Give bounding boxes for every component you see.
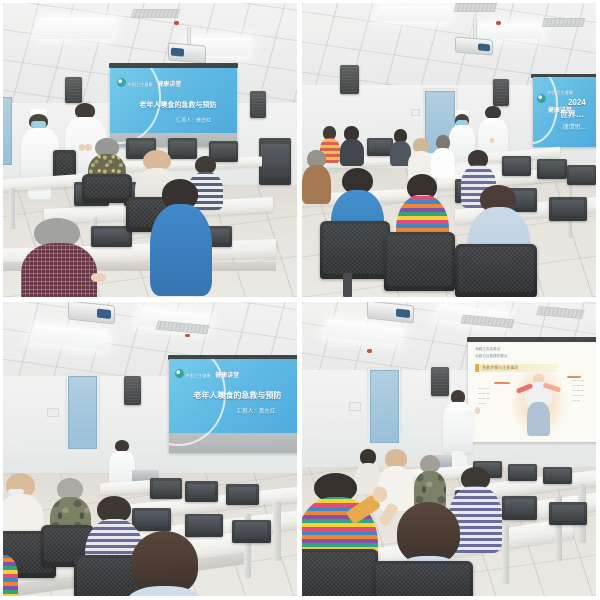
audience-member <box>414 455 446 508</box>
ceiling-vent <box>131 9 181 18</box>
slide-logo-large-text: 健康讲堂 <box>157 82 181 88</box>
photo-bottom-left: 中国卫生健康 健康讲堂 老年人噢食的急救与预防 汇报人：黄志红 <box>3 302 297 596</box>
slide-subtitle: 汇报人：黄志红 <box>176 117 211 124</box>
wall-speaker <box>340 65 359 94</box>
slide-logo-small-text: 中国卫生健康 <box>548 90 573 95</box>
ceiling-light <box>477 24 545 39</box>
audience-member <box>302 150 331 203</box>
smoke-detector-icon <box>367 349 372 353</box>
health-logo-icon <box>117 78 126 87</box>
audience-member <box>3 555 18 596</box>
desktop-monitor <box>537 159 566 180</box>
classroom-door <box>370 370 399 444</box>
audience-member <box>21 218 97 297</box>
slide-logo: 中国卫生健康 健康讲堂 <box>117 73 182 91</box>
projection-screen: 海姆立克急救法 自救与互救操作要点 急救步骤与注意事项 — — —— — —— … <box>468 342 596 442</box>
chair <box>320 221 391 280</box>
audience-member <box>431 135 455 176</box>
desktop-monitor <box>185 481 217 502</box>
ceiling-projector <box>168 42 206 63</box>
slide-logo-small-text: 中国卫生健康 <box>186 373 211 378</box>
wall-speaker <box>124 376 142 405</box>
photo-top-right: 中国卫生健康 健康讲堂 2024 世界… 谨请思… <box>302 3 596 297</box>
slide-callout-right: — — —— — —— — —— — —— — <box>573 378 584 404</box>
desktop-monitor <box>502 496 537 520</box>
slide-title: 老年人噢食的急救与预防 <box>139 100 216 110</box>
face-mask <box>31 121 46 128</box>
smoke-detector-icon <box>496 21 501 25</box>
slide-line-3: 谨请思… <box>563 122 587 131</box>
desktop-monitor <box>549 197 587 221</box>
classroom-door <box>3 97 12 165</box>
desktop-monitor <box>508 464 537 482</box>
audience-member <box>121 531 209 596</box>
desktop-monitor <box>232 520 270 544</box>
classroom-door <box>68 376 97 450</box>
slide-line-1: 2024 <box>568 98 586 107</box>
photo-bottom-right: 海姆立克急救法 自救与互救操作要点 急救步骤与注意事项 — — —— — —— … <box>302 302 596 596</box>
health-logo-icon <box>537 94 546 103</box>
wall-switch <box>411 109 420 116</box>
wall-speaker <box>250 91 266 117</box>
slide-section-band: 急救步骤与注意事项 <box>475 364 557 372</box>
chair <box>373 561 473 596</box>
desktop-monitor <box>567 165 596 186</box>
desktop-monitor <box>150 478 182 499</box>
slide-header-line-1: 海姆立克急救法 <box>475 347 500 352</box>
ceiling-vent <box>454 3 497 12</box>
equipment-rack <box>259 138 291 185</box>
content-slide: 海姆立克急救法 自救与互救操作要点 急救步骤与注意事项 — — —— — —— … <box>468 342 596 442</box>
health-logo-icon <box>175 369 184 378</box>
wall-speaker <box>65 77 83 103</box>
desktop-monitor <box>226 484 258 505</box>
slide-header-line-2: 自救与互救操作要点 <box>475 354 507 359</box>
audience-member <box>150 179 212 291</box>
desktop-monitor <box>502 156 531 177</box>
projection-screen: 中国卫生健康 健康讲堂 2024 世界… 谨请思… <box>533 77 596 148</box>
slide-callout-left: — — —— — —— — —— — <box>478 386 489 407</box>
desktop-monitor <box>543 467 572 485</box>
slide-title: 老年人噢食的急救与预防 <box>193 390 281 401</box>
ceiling-light <box>35 18 117 39</box>
slide-band-label: 急救步骤与注意事项 <box>479 364 557 371</box>
slide-line-2: 世界… <box>560 109 584 120</box>
ceiling-vent <box>542 18 585 27</box>
desktop-monitor <box>549 502 587 526</box>
slide-logo: 中国卫生健康 健康讲堂 <box>175 364 240 382</box>
wall-switch <box>47 408 59 417</box>
slide-arrow <box>494 382 511 384</box>
chair <box>302 549 378 596</box>
wall-speaker <box>493 79 509 105</box>
wall-switch <box>349 402 361 411</box>
slide-logo-large-text: 健康讲堂 <box>215 373 239 379</box>
projection-screen: 中国卫生健康 健康讲堂 老年人噢食的急救与预防 汇报人：黄志红 <box>169 359 297 453</box>
slide-arrow <box>567 376 581 378</box>
ceiling-light <box>377 6 451 21</box>
chair <box>455 244 537 297</box>
slide-logo-small-text: 中国卫生健康 <box>128 82 153 87</box>
projection-screen: 中国卫生健康 健康讲堂 老年人噢食的急救与预防 汇报人：黄志红 <box>110 68 236 147</box>
smoke-detector-icon <box>174 21 179 25</box>
audience-member <box>340 126 364 164</box>
slide-subtitle: 汇报人：黄志红 <box>237 407 276 415</box>
chair <box>82 174 132 203</box>
seated-presenter <box>109 440 135 487</box>
chair <box>384 232 455 291</box>
photo-collage: 中国卫生健康 健康讲堂 老年人噢食的急救与预防 汇报人：黄志红 <box>0 0 600 600</box>
photo-top-left: 中国卫生健康 健康讲堂 老年人噢食的急救与预防 汇报人：黄志红 <box>3 3 297 297</box>
desktop-monitor <box>367 138 393 156</box>
illustration-figure <box>510 372 566 438</box>
raised-hand <box>373 487 386 502</box>
